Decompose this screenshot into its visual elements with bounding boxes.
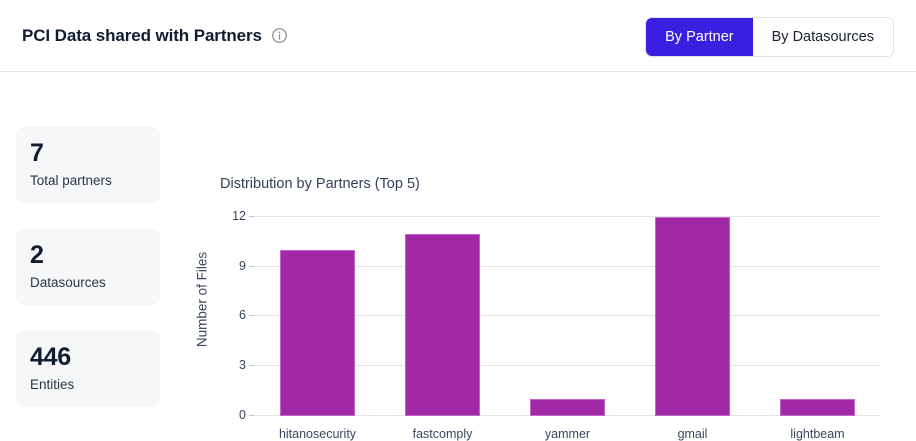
info-circle-icon[interactable]	[271, 27, 288, 44]
chart-bar[interactable]	[655, 217, 730, 416]
stat-value: 7	[30, 140, 146, 167]
chart-plot-area: 036912 hitanosecurityfastcomplyyammergma…	[255, 207, 880, 416]
page-title-text: PCI Data shared with Partners	[22, 26, 262, 46]
summary-stats: 7 Total partners 2 Datasources 446 Entit…	[16, 127, 160, 407]
chart-y-tick-label: 6	[239, 308, 246, 322]
chart-y-axis-title: Number of Files	[195, 200, 210, 400]
stat-label: Datasources	[30, 276, 146, 291]
chart-bar[interactable]	[280, 250, 355, 416]
chart-bar[interactable]	[405, 234, 480, 416]
chart-y-tick-label: 3	[239, 358, 246, 372]
stat-label: Entities	[30, 378, 146, 393]
panel-header: PCI Data shared with Partners By Partner…	[0, 0, 916, 72]
chart-x-tick-label: hitanosecurity	[279, 427, 356, 441]
stat-card-total-partners: 7 Total partners	[16, 127, 160, 203]
stat-card-entities: 446 Entities	[16, 331, 160, 407]
toggle-by-datasources[interactable]: By Datasources	[753, 18, 893, 56]
chart-x-tick-label: fastcomply	[413, 427, 473, 441]
page-title: PCI Data shared with Partners	[22, 26, 288, 46]
chart-bar[interactable]	[530, 399, 605, 416]
chart-bars: hitanosecurityfastcomplyyammergmaillight…	[255, 207, 880, 416]
toggle-by-partner[interactable]: By Partner	[646, 18, 753, 56]
chart-title: Distribution by Partners (Top 5)	[220, 176, 420, 192]
chart-y-tick-label: 9	[239, 259, 246, 273]
partners-bar-chart: Distribution by Partners (Top 5) Number …	[190, 72, 916, 433]
chart-x-tick-label: yammer	[545, 427, 590, 441]
view-toggle-group[interactable]: By Partner By Datasources	[645, 17, 894, 57]
chart-y-tick-label: 0	[239, 408, 246, 422]
chart-y-tick-label: 12	[232, 209, 246, 223]
chart-x-tick-label: gmail	[678, 427, 708, 441]
stat-card-datasources: 2 Datasources	[16, 229, 160, 305]
chart-x-tick-label: lightbeam	[790, 427, 844, 441]
stat-value: 2	[30, 242, 146, 269]
panel-body: 7 Total partners 2 Datasources 446 Entit…	[0, 72, 916, 433]
stat-label: Total partners	[30, 174, 146, 189]
chart-bar[interactable]	[780, 399, 855, 416]
stat-value: 446	[30, 344, 146, 371]
